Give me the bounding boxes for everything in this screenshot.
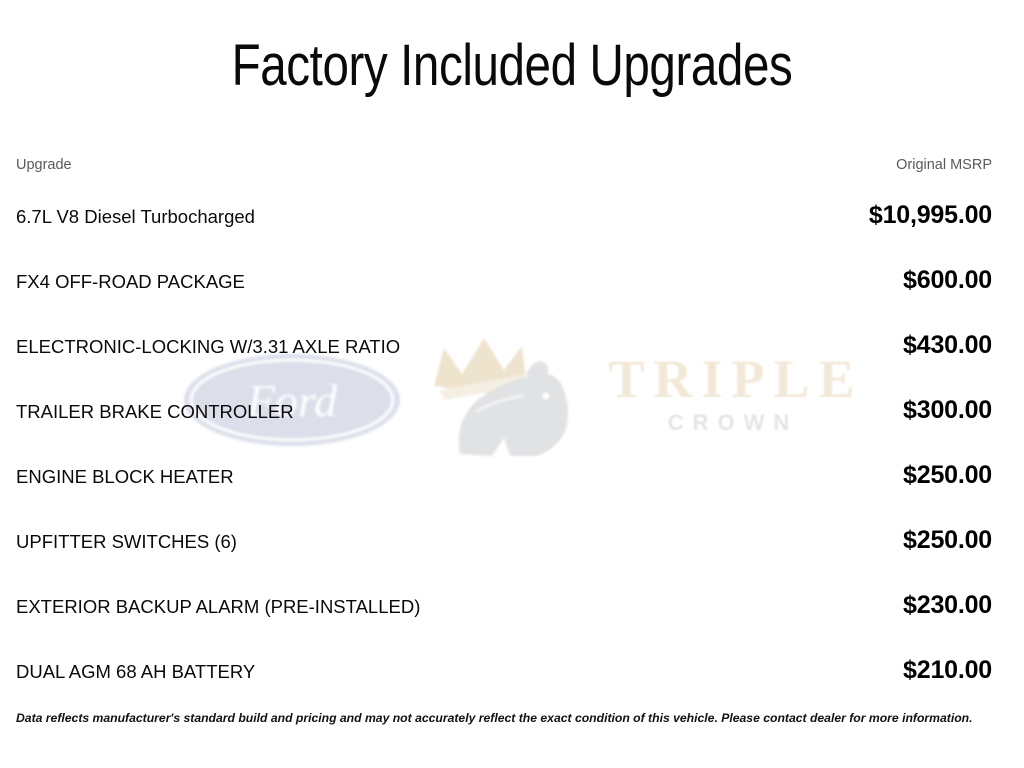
upgrade-name: ELECTRONIC-LOCKING W/3.31 AXLE RATIO xyxy=(16,335,879,359)
upgrade-price: $210.00 xyxy=(879,656,992,684)
disclaimer-text: Data reflects manufacturer's standard bu… xyxy=(16,710,992,726)
upgrade-price: $250.00 xyxy=(879,461,992,489)
upgrade-name: FX4 OFF-ROAD PACKAGE xyxy=(16,270,879,294)
upgrade-price: $230.00 xyxy=(879,591,992,619)
factory-upgrades-page: Ford TRIPLE CROWN Factory Included Upgra… xyxy=(0,0,1024,768)
table-row: 6.7L V8 Diesel Turbocharged $10,995.00 xyxy=(16,201,992,266)
upgrade-name: EXTERIOR BACKUP ALARM (PRE-INSTALLED) xyxy=(16,595,879,619)
upgrade-price: $10,995.00 xyxy=(845,201,992,229)
column-header-upgrade: Upgrade xyxy=(16,155,872,175)
upgrade-price: $430.00 xyxy=(879,331,992,359)
upgrade-name: ENGINE BLOCK HEATER xyxy=(16,465,879,489)
table-header-row: Upgrade Original MSRP xyxy=(16,155,992,201)
table-row: FX4 OFF-ROAD PACKAGE $600.00 xyxy=(16,266,992,331)
upgrade-price: $250.00 xyxy=(879,526,992,554)
upgrade-name: 6.7L V8 Diesel Turbocharged xyxy=(16,205,845,229)
upgrade-name: TRAILER BRAKE CONTROLLER xyxy=(16,400,879,424)
upgrade-price: $600.00 xyxy=(879,266,992,294)
upgrades-table: Upgrade Original MSRP 6.7L V8 Diesel Tur… xyxy=(16,155,992,721)
table-row: ELECTRONIC-LOCKING W/3.31 AXLE RATIO $43… xyxy=(16,331,992,396)
upgrade-price: $300.00 xyxy=(879,396,992,424)
page-title: Factory Included Upgrades xyxy=(92,30,932,102)
upgrade-name: UPFITTER SWITCHES (6) xyxy=(16,530,879,554)
table-row: TRAILER BRAKE CONTROLLER $300.00 xyxy=(16,396,992,461)
column-header-price: Original MSRP xyxy=(872,155,992,175)
table-row: EXTERIOR BACKUP ALARM (PRE-INSTALLED) $2… xyxy=(16,591,992,656)
table-row: UPFITTER SWITCHES (6) $250.00 xyxy=(16,526,992,591)
upgrade-name: DUAL AGM 68 AH BATTERY xyxy=(16,660,879,684)
table-row: ENGINE BLOCK HEATER $250.00 xyxy=(16,461,992,526)
